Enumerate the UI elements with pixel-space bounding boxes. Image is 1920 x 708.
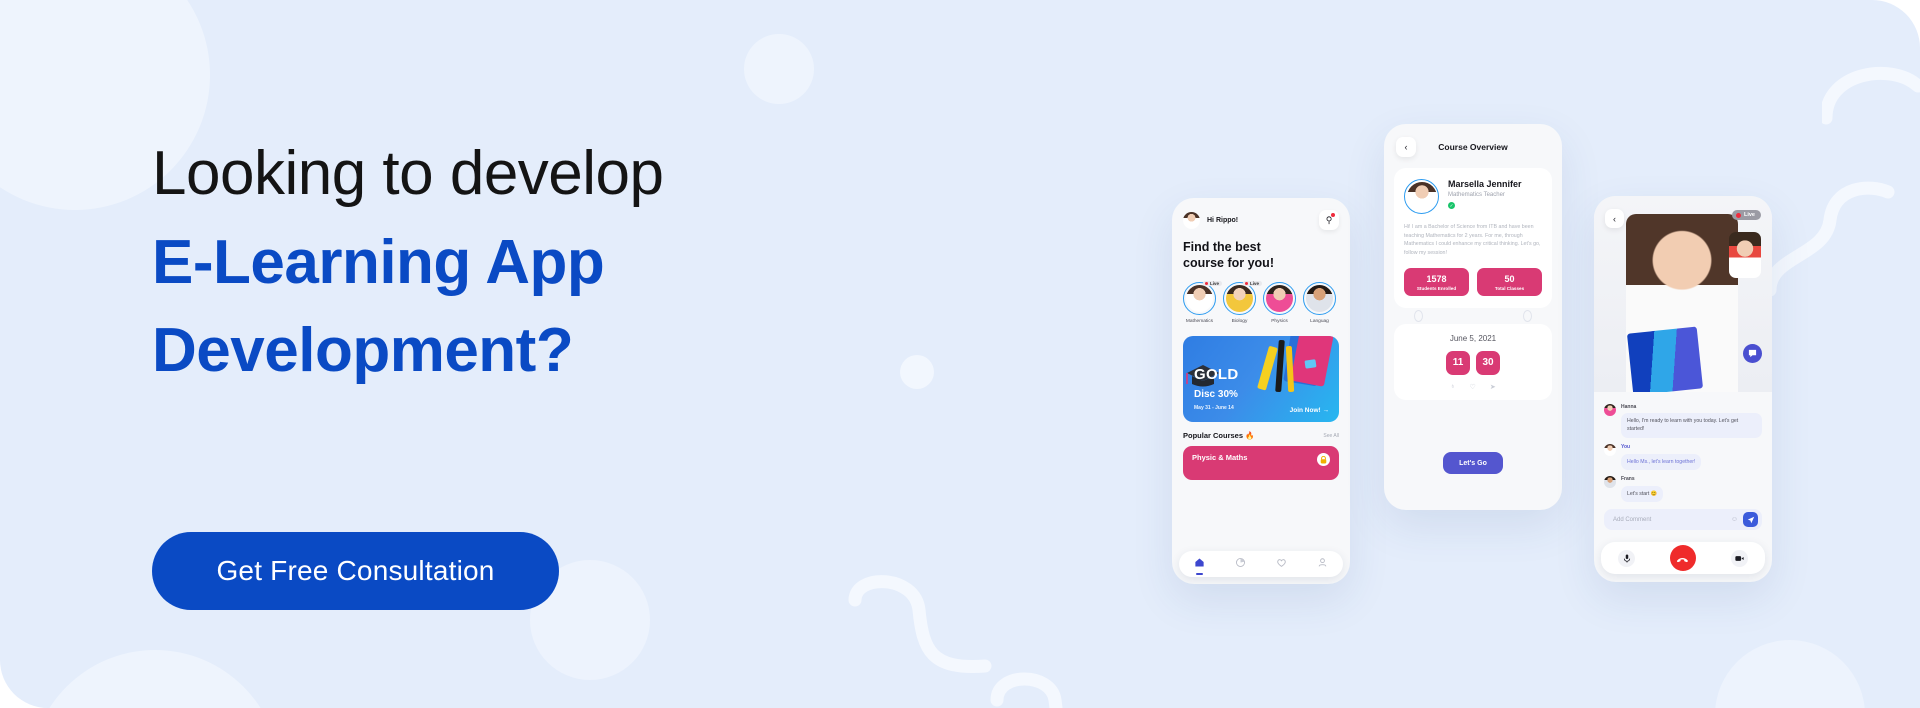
- live-badge: Live: [1243, 281, 1262, 286]
- teacher-avatar: [1404, 179, 1439, 214]
- comment-input-placeholder[interactable]: Add Comment: [1613, 517, 1726, 523]
- date-tiles: 11 30: [1394, 351, 1552, 375]
- category-label: Languag: [1303, 319, 1336, 324]
- avatar: [1604, 444, 1616, 456]
- avatar: [1604, 476, 1616, 488]
- date-tile: 11: [1446, 351, 1470, 375]
- date-actions: ♁ ♡ ➤: [1394, 383, 1552, 391]
- decorative-squiggle: [1822, 22, 1920, 132]
- category-item[interactable]: Physics: [1263, 282, 1296, 324]
- teacher-stats: 1578 Students Enrolled 50 Total Classes: [1404, 268, 1542, 296]
- category-item[interactable]: Live Mathematics: [1183, 282, 1216, 324]
- notification-dot: [1331, 213, 1335, 217]
- decorative-squiggle: [845, 560, 1075, 708]
- message-bubble: Hello, I'm ready to learn with you today…: [1621, 413, 1762, 438]
- greeting-text: Hi Rippo!: [1207, 217, 1238, 224]
- promo-card[interactable]: GOLD Disc 30% May 31 - June 14 Join Now!…: [1183, 336, 1339, 422]
- stat-card: 1578 Students Enrolled: [1404, 268, 1469, 296]
- headline-line-1: Looking to develop: [152, 130, 912, 219]
- teacher-role: Mathematics Teacher: [1448, 192, 1522, 198]
- course-name: Physic & Maths: [1192, 453, 1247, 462]
- category-label: Mathematics: [1183, 319, 1216, 324]
- category-item[interactable]: Languag: [1303, 282, 1336, 324]
- emoji-icon[interactable]: ☺: [1731, 516, 1738, 523]
- live-label: Live: [1744, 212, 1755, 218]
- stat-label: Students Enrolled: [1404, 286, 1469, 291]
- category-label: Physics: [1263, 319, 1296, 324]
- video-stage: ‹ Live: [1594, 196, 1772, 392]
- avatar: [1183, 212, 1200, 229]
- video-icon[interactable]: [1731, 550, 1748, 567]
- hero-copy: Looking to develop E-Learning App Develo…: [152, 130, 912, 396]
- decorative-circle: [744, 34, 814, 104]
- decorative-circle: [1715, 640, 1865, 708]
- see-all-link[interactable]: See All: [1323, 433, 1339, 439]
- teacher-bio: Hi! I am a Bachelor of Science from ITB …: [1404, 223, 1542, 258]
- stat-value: 50: [1477, 274, 1542, 284]
- live-badge: Live: [1732, 210, 1761, 220]
- participant-thumbnail[interactable]: [1729, 232, 1761, 278]
- chat-message: You Hello Ms., let's learn together!: [1604, 444, 1762, 470]
- phone-mockup-course-overview: ‹ Course Overview Marsella Jennifer Math…: [1384, 124, 1562, 510]
- phone-mockup-home: Hi Rippo! ⚲ Find the bestcourse for you!…: [1172, 198, 1350, 584]
- hero-banner: Looking to develop E-Learning App Develo…: [0, 0, 1920, 708]
- phone-mockup-video-call: ‹ Live Hanna Hello, I'm ready to learn w…: [1594, 196, 1772, 582]
- chat-message: Frans Let's start 😊: [1604, 476, 1762, 502]
- comment-composer[interactable]: Add Comment ☺: [1604, 509, 1762, 530]
- live-badge: Live: [1203, 281, 1222, 286]
- chat-message: Hanna Hello, I'm ready to learn with you…: [1604, 404, 1762, 438]
- promo-join-link[interactable]: Join Now! →: [1290, 407, 1329, 414]
- popular-courses-header: Popular Courses 🔥 See All: [1172, 422, 1350, 440]
- page-title: Course Overview: [1416, 142, 1530, 152]
- chat-list: Hanna Hello, I'm ready to learn with you…: [1594, 392, 1772, 502]
- date-card: June 5, 2021 11 30 ♁ ♡ ➤: [1394, 324, 1552, 400]
- headline-line-3: Development?: [152, 307, 912, 396]
- promo-dates: May 31 - June 14: [1194, 405, 1234, 411]
- call-controls: [1601, 542, 1765, 574]
- teacher-card: Marsella Jennifer Mathematics Teacher ✓ …: [1394, 168, 1552, 308]
- category-item[interactable]: Live Biology: [1223, 282, 1256, 324]
- send-icon[interactable]: [1743, 512, 1758, 527]
- chat-bubble-icon[interactable]: [1743, 344, 1762, 363]
- category-list: Live Mathematics Live Biology Physics La…: [1172, 271, 1350, 324]
- lock-icon: [1317, 453, 1330, 466]
- message-bubble: Let's start 😊: [1621, 486, 1663, 502]
- course-overview-header: ‹ Course Overview: [1384, 124, 1562, 157]
- greeting-group: Hi Rippo!: [1183, 212, 1238, 229]
- avatar: [1604, 404, 1616, 416]
- nav-profile-icon[interactable]: [1317, 557, 1328, 571]
- nav-favorites-icon[interactable]: [1276, 557, 1287, 571]
- promo-badge: GOLD: [1194, 366, 1239, 383]
- send-icon[interactable]: ➤: [1490, 383, 1496, 391]
- home-header: Hi Rippo! ⚲: [1172, 198, 1350, 230]
- decorative-circle: [30, 650, 280, 708]
- stat-value: 1578: [1404, 274, 1469, 284]
- course-card[interactable]: Physic & Maths: [1183, 446, 1339, 480]
- get-free-consultation-button[interactable]: Get Free Consultation: [152, 532, 559, 610]
- teacher-name: Marsella Jennifer: [1448, 179, 1522, 189]
- message-bubble: Hello Ms., let's learn together!: [1621, 454, 1701, 470]
- bell-icon[interactable]: ♁: [1450, 383, 1455, 391]
- nav-home-icon[interactable]: [1194, 557, 1205, 571]
- decorative-squiggle: [1760, 170, 1910, 320]
- sender-name: Frans: [1621, 476, 1663, 482]
- headline-line-2: E-Learning App: [152, 219, 912, 308]
- bottom-nav: [1179, 551, 1343, 577]
- sender-name: Hanna: [1621, 404, 1762, 410]
- mic-icon[interactable]: [1618, 550, 1635, 567]
- back-icon[interactable]: ‹: [1396, 137, 1416, 157]
- back-icon[interactable]: ‹: [1605, 209, 1624, 228]
- home-title: Find the bestcourse for you!: [1172, 230, 1350, 271]
- heart-icon[interactable]: ♡: [1470, 383, 1476, 391]
- hang-up-icon[interactable]: [1670, 545, 1696, 571]
- popular-courses-title: Popular Courses 🔥: [1183, 431, 1254, 440]
- stationery-illustration: [1241, 336, 1337, 400]
- promo-discount: Disc 30%: [1194, 389, 1238, 400]
- lets-go-button[interactable]: Let's Go: [1443, 452, 1503, 474]
- nav-stats-icon[interactable]: [1235, 557, 1246, 571]
- category-label: Biology: [1223, 319, 1256, 324]
- date-title: June 5, 2021: [1394, 334, 1552, 343]
- bell-icon[interactable]: ⚲: [1319, 210, 1339, 230]
- date-tile: 30: [1476, 351, 1500, 375]
- stat-label: Total Classes: [1477, 286, 1542, 291]
- verified-icon: ✓: [1448, 202, 1455, 209]
- binder-rings: [1384, 308, 1562, 322]
- stat-card: 50 Total Classes: [1477, 268, 1542, 296]
- notebooks-illustration: [1627, 327, 1703, 392]
- sender-name: You: [1621, 444, 1701, 450]
